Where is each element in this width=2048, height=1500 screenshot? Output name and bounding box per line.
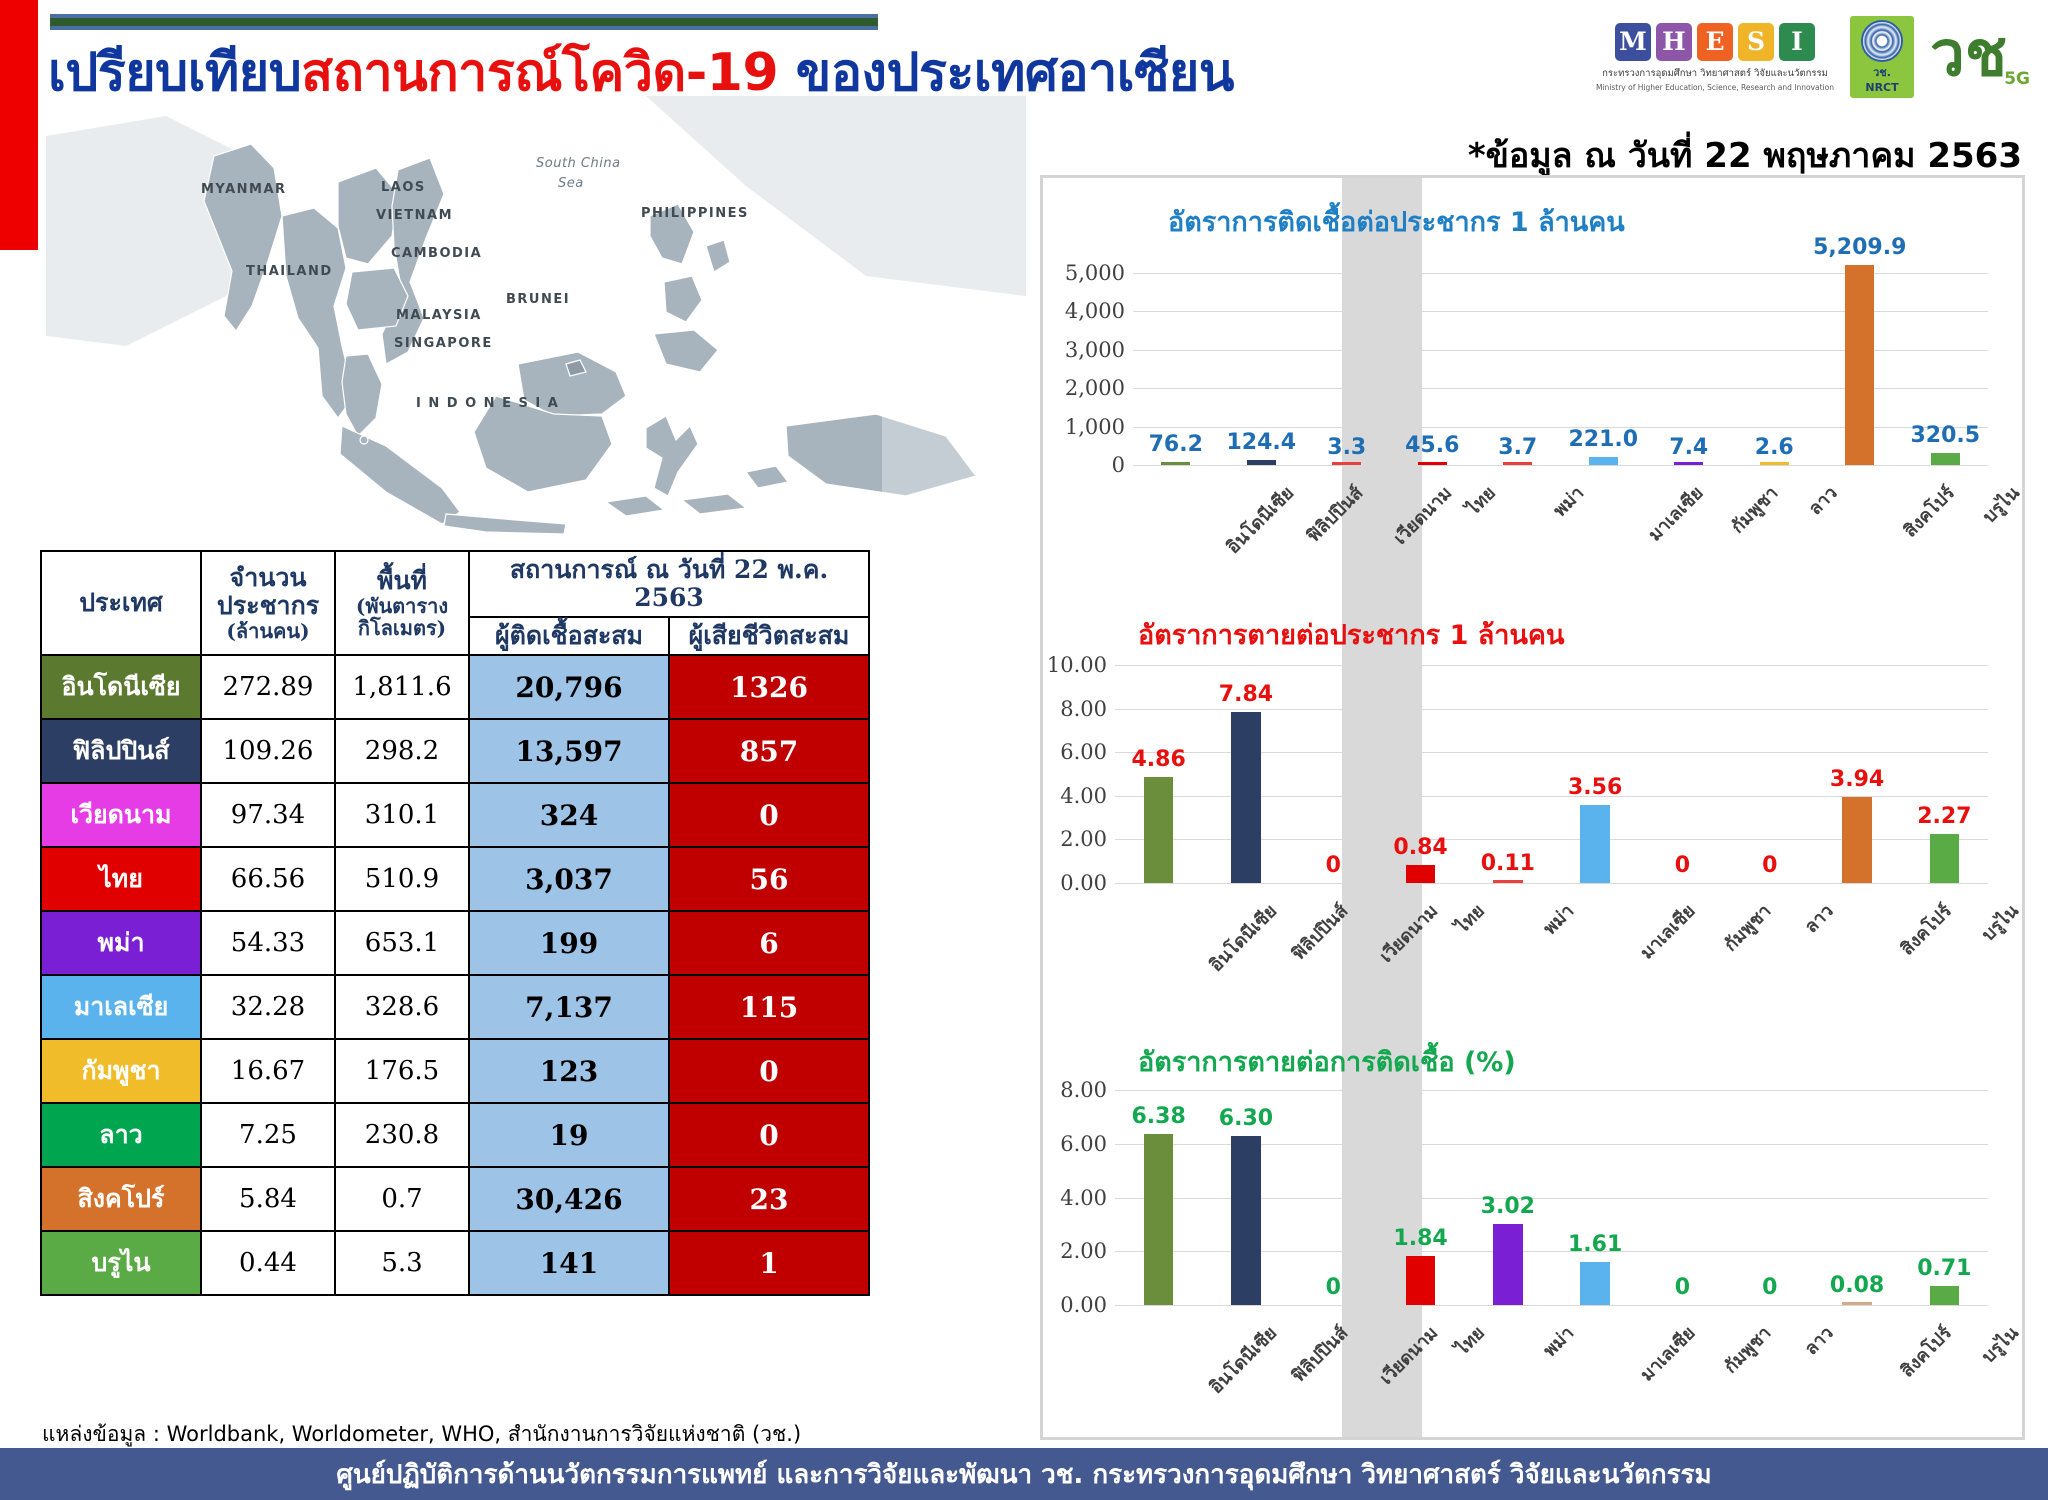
- cell-country: ฟิลิปปินส์: [41, 719, 201, 783]
- chart-data-label: 3.02: [1481, 1194, 1535, 1219]
- chart-bar: [1493, 880, 1523, 883]
- chart-bar: [1760, 462, 1789, 465]
- chart-bar: [1845, 265, 1874, 465]
- chart-data-label: 221.0: [1568, 427, 1638, 452]
- chart-data-label: 2.6: [1755, 435, 1794, 460]
- cell-cases: 3,037: [469, 847, 669, 911]
- cell-deaths: 1: [669, 1231, 869, 1295]
- mhesi-letter-i: I: [1779, 23, 1815, 61]
- page-title-part3: ของประเทศอาเซียน: [778, 43, 1234, 103]
- th-population-line1: จำนวน: [208, 564, 328, 592]
- page-title-part2: สถานการณ์โควิด-19: [301, 43, 778, 103]
- chart-y-tick-label: 8.00: [1060, 697, 1107, 721]
- chart-3: อัตราการตายต่อการติดเชื้อ (%)0.002.004.0…: [1043, 1028, 2028, 1425]
- cell-cases: 123: [469, 1039, 669, 1103]
- red-accent-bar: [0, 0, 38, 250]
- cell-area: 0.7: [335, 1167, 469, 1231]
- chart-bar: [1580, 805, 1610, 883]
- cell-population: 7.25: [201, 1103, 335, 1167]
- mhesi-letter-e: E: [1697, 23, 1733, 61]
- chart-x-tick-label: บรูไน: [1976, 479, 2027, 530]
- chart-data-label: 0.08: [1830, 1273, 1884, 1298]
- map-label: LAOS: [381, 180, 426, 195]
- th-area-line2: (พันตาราง: [342, 595, 462, 617]
- map-label: SINGAPORE: [394, 336, 493, 351]
- chart-2: อัตราการตายต่อประชากร 1 ล้านคน0.002.004.…: [1043, 603, 2028, 1003]
- chart-plot-area: 0.002.004.006.008.0010.004.86อินโดนีเซีย…: [1115, 665, 1988, 883]
- chart-bar: [1144, 1134, 1174, 1305]
- chart-title: อัตราการตายต่อการติดเชื้อ (%): [1138, 1040, 1516, 1083]
- cell-area: 510.9: [335, 847, 469, 911]
- chart-bar: [1144, 777, 1174, 883]
- as-of-date: *ข้อมูล ณ วันที่ 22 พฤษภาคม 2563: [1468, 128, 2022, 182]
- nrct-wheel-icon: [1861, 20, 1903, 62]
- chart-plot-area: 0.002.004.006.008.006.38อินโดนีเซีย6.30ฟ…: [1115, 1090, 1988, 1305]
- asean-map: MYANMARLAOSSouth ChinaSeaVIETNAMPHILIPPI…: [46, 96, 1026, 536]
- chart-bar: [1580, 1262, 1610, 1305]
- infographic-page: เปรียบเทียบสถานการณ์โควิด-19 ของประเทศอา…: [0, 0, 2048, 1500]
- chart-data-label: 0.71: [1917, 1256, 1971, 1281]
- table-row: เวียดนาม97.34310.13240: [41, 783, 869, 847]
- chart-bar: [1842, 1302, 1872, 1305]
- chart-bar: [1930, 834, 1960, 883]
- chart-data-label: 1.61: [1568, 1232, 1622, 1257]
- chart-y-tick-label: 0.00: [1060, 871, 1107, 895]
- table-row: พม่า54.33653.11996: [41, 911, 869, 975]
- chart-x-tick-label: พม่า: [1546, 479, 1590, 523]
- mhesi-letter-s: S: [1738, 23, 1774, 61]
- th-population: จำนวน ประชากร (ล้านคน): [201, 551, 335, 655]
- chart-x-tick-label: อินโดนีเซีย: [1219, 479, 1300, 560]
- chart-x-tick-label: บรูไน: [1975, 1319, 2026, 1370]
- chart-x-tick-label: พม่า: [1536, 897, 1580, 941]
- chart-x-tick-label: ลาว: [1801, 479, 1844, 522]
- mhesi-letter-blocks: M H E S I: [1615, 23, 1815, 61]
- chart-data-label: 320.5: [1910, 423, 1980, 448]
- chart-data-label: 76.2: [1149, 432, 1203, 457]
- table-row: ลาว7.25230.8190: [41, 1103, 869, 1167]
- cell-country: ไทย: [41, 847, 201, 911]
- chart-x-tick-label: มาเลเซีย: [1633, 1319, 1702, 1388]
- chart-data-label: 3.3: [1327, 435, 1366, 460]
- cell-area: 310.1: [335, 783, 469, 847]
- chart-data-label: 7.4: [1669, 435, 1708, 460]
- th-cases: ผู้ติดเชื้อสะสม: [469, 617, 669, 655]
- chart-data-label: 6.30: [1219, 1106, 1273, 1131]
- cell-area: 653.1: [335, 911, 469, 975]
- chart-x-tick-label: อินโดนีเซีย: [1202, 1319, 1283, 1400]
- table-row: กัมพูชา16.67176.51230: [41, 1039, 869, 1103]
- cell-population: 0.44: [201, 1231, 335, 1295]
- map-label: South China: [536, 156, 621, 171]
- chart-data-label: 0: [1762, 1275, 1777, 1300]
- th-deaths: ผู้เสียชีวิตสะสม: [669, 617, 869, 655]
- cell-area: 230.8: [335, 1103, 469, 1167]
- nrct-logo: วช. NRCT: [1850, 16, 1914, 98]
- chart-bar: [1931, 453, 1960, 465]
- chart-data-label: 4.86: [1132, 747, 1186, 772]
- chart-y-tick-label: 10.00: [1047, 653, 1107, 677]
- th-area-line1: พื้นที่: [342, 567, 462, 595]
- cell-area: 5.3: [335, 1231, 469, 1295]
- cell-country: บรูไน: [41, 1231, 201, 1295]
- th-area-line3: กิโลเมตร): [342, 617, 462, 639]
- table-body: อินโดนีเซีย272.891,811.620,7961326ฟิลิปป…: [41, 655, 869, 1295]
- mhesi-english-name: Ministry of Higher Education, Science, R…: [1596, 83, 1834, 92]
- chart-y-tick-label: 4.00: [1060, 784, 1107, 808]
- chart-1: อัตราการติดเชื้อต่อประชากร 1 ล้านคน01,00…: [1043, 178, 2028, 585]
- chart-x-tick-label: ไทย: [1459, 479, 1502, 522]
- cell-population: 272.89: [201, 655, 335, 719]
- chart-bar: [1231, 1136, 1261, 1305]
- chart-y-tick-label: 2,000: [1065, 376, 1125, 400]
- chart-y-tick-label: 1,000: [1065, 415, 1125, 439]
- chart-y-tick-label: 2.00: [1060, 827, 1107, 851]
- chart-data-label: 45.6: [1405, 433, 1459, 458]
- chart-x-tick-label: กัมพูชา: [1717, 897, 1778, 958]
- chart-x-tick-label: บรูไน: [1975, 897, 2026, 948]
- chart-data-label: 0.11: [1481, 851, 1535, 876]
- cell-population: 97.34: [201, 783, 335, 847]
- chart-x-tick-label: มาเลเซีย: [1641, 479, 1710, 548]
- cell-cases: 20,796: [469, 655, 669, 719]
- chart-x-tick-label: มาเลเซีย: [1633, 897, 1702, 966]
- chart-x-tick-label: เวียดนาม: [1386, 479, 1458, 551]
- vch-5g-label: 5G: [2004, 69, 2030, 89]
- charts-panel: อัตราการติดเชื้อต่อประชากร 1 ล้านคน01,00…: [1040, 175, 2025, 1440]
- cell-cases: 199: [469, 911, 669, 975]
- chart-x-tick-label: ฟิลิปปินส์: [1284, 897, 1354, 967]
- chart-data-label: 3.56: [1568, 775, 1622, 800]
- chart-plot-area: 01,0002,0003,0004,0005,00076.2อินโดนีเซี…: [1133, 250, 1988, 465]
- table-row: ไทย66.56510.93,03756: [41, 847, 869, 911]
- cell-cases: 30,426: [469, 1167, 669, 1231]
- mhesi-thai-name: กระทรวงการอุดมศึกษา วิทยาศาสตร์ วิจัยและ…: [1602, 66, 1828, 81]
- chart-data-label: 2.27: [1917, 804, 1971, 829]
- chart-y-tick-label: 8.00: [1060, 1078, 1107, 1102]
- th-situation: สถานการณ์ ณ วันที่ 22 พ.ค. 2563: [469, 551, 869, 617]
- nrct-thai-label: วช.: [1873, 63, 1891, 81]
- cell-cases: 7,137: [469, 975, 669, 1039]
- chart-x-tick-label: กัมพูชา: [1717, 1319, 1778, 1380]
- chart-data-label: 0: [1326, 1275, 1341, 1300]
- chart-x-tick-label: ลาว: [1797, 897, 1840, 940]
- cell-deaths: 0: [669, 1103, 869, 1167]
- cell-country: กัมพูชา: [41, 1039, 201, 1103]
- chart-y-tick-label: 6.00: [1060, 1132, 1107, 1156]
- cell-country: พม่า: [41, 911, 201, 975]
- chart-gridline: [1133, 465, 1988, 466]
- th-population-line2: ประชากร: [208, 592, 328, 620]
- chart-data-label: 0: [1675, 853, 1690, 878]
- cell-area: 328.6: [335, 975, 469, 1039]
- th-population-line3: (ล้านคน): [208, 620, 328, 642]
- map-label: THAILAND: [246, 264, 333, 279]
- chart-y-tick-label: 0: [1112, 453, 1125, 477]
- chart-data-label: 7.84: [1219, 682, 1273, 707]
- chart-bar: [1674, 462, 1703, 465]
- cell-population: 109.26: [201, 719, 335, 783]
- chart-bar: [1247, 460, 1276, 465]
- chart-data-label: 5,209.9: [1813, 235, 1906, 260]
- cell-country: มาเลเซีย: [41, 975, 201, 1039]
- chart-bar: [1930, 1286, 1960, 1305]
- country-stats-table: ประเทศ จำนวน ประชากร (ล้านคน) พื้นที่ (พ…: [40, 550, 870, 1296]
- chart-x-tick-label: กัมพูชา: [1723, 479, 1784, 540]
- map-label: CAMBODIA: [391, 246, 482, 261]
- chart-data-label: 1.84: [1393, 1226, 1447, 1251]
- mhesi-logo: M H E S I กระทรวงการอุดมศึกษา วิทยาศาสตร…: [1596, 23, 1834, 92]
- cell-country: เวียดนาม: [41, 783, 201, 847]
- cell-deaths: 23: [669, 1167, 869, 1231]
- chart-gridline: [1115, 883, 1988, 884]
- mhesi-letter-m: M: [1615, 23, 1651, 61]
- chart-x-tick-label: อินโดนีเซีย: [1202, 897, 1283, 978]
- chart-y-tick-label: 4,000: [1065, 299, 1125, 323]
- cell-deaths: 115: [669, 975, 869, 1039]
- chart-y-tick-label: 2.00: [1060, 1239, 1107, 1263]
- cell-area: 298.2: [335, 719, 469, 783]
- vch-5g-logo: วช 5G: [1930, 19, 2026, 95]
- chart-x-tick-label: เวียดนาม: [1373, 1319, 1445, 1391]
- chart-gridline: [1115, 709, 1988, 710]
- chart-y-tick-label: 5,000: [1065, 261, 1125, 285]
- map-label: VIETNAM: [376, 208, 453, 223]
- chart-bar: [1406, 1256, 1436, 1305]
- chart-x-tick-label: สิงคโปร์: [1893, 1319, 1958, 1384]
- cell-cases: 324: [469, 783, 669, 847]
- chart-data-label: 0: [1326, 853, 1341, 878]
- chart-bar: [1842, 797, 1872, 883]
- chart-x-tick-label: สิงคโปร์: [1896, 479, 1961, 544]
- cell-area: 1,811.6: [335, 655, 469, 719]
- chart-y-tick-label: 0.00: [1060, 1293, 1107, 1317]
- chart-gridline: [1115, 665, 1988, 666]
- chart-bar: [1332, 462, 1361, 465]
- chart-gridline: [1115, 1305, 1988, 1306]
- map-label: PHILIPPINES: [641, 206, 749, 221]
- map-label: BRUNEI: [506, 292, 570, 307]
- chart-gridline: [1115, 1090, 1988, 1091]
- chart-data-label: 3.94: [1830, 767, 1884, 792]
- chart-bar: [1418, 462, 1447, 465]
- table-row: สิงคโปร์5.840.730,42623: [41, 1167, 869, 1231]
- table-header-row-1: ประเทศ จำนวน ประชากร (ล้านคน) พื้นที่ (พ…: [41, 551, 869, 617]
- map-label: Sea: [558, 176, 584, 191]
- chart-data-label: 0.84: [1393, 835, 1447, 860]
- chart-data-label: 3.7: [1498, 435, 1537, 460]
- page-title-part1: เปรียบเทียบ: [48, 43, 301, 103]
- table-row: บรูไน0.445.31411: [41, 1231, 869, 1295]
- cell-population: 54.33: [201, 911, 335, 975]
- chart-bar: [1589, 457, 1618, 465]
- cell-population: 16.67: [201, 1039, 335, 1103]
- table-head: ประเทศ จำนวน ประชากร (ล้านคน) พื้นที่ (พ…: [41, 551, 869, 655]
- chart-x-tick-label: ฟิลิปปินส์: [1284, 1319, 1354, 1389]
- cell-deaths: 0: [669, 783, 869, 847]
- chart-x-tick-label: สิงคโปร์: [1893, 897, 1958, 962]
- chart-x-tick-label: ฟิลิปปินส์: [1300, 479, 1370, 549]
- chart-x-tick-label: เวียดนาม: [1373, 897, 1445, 969]
- table-row: ฟิลิปปินส์109.26298.213,597857: [41, 719, 869, 783]
- th-country: ประเทศ: [41, 551, 201, 655]
- map-label: MALAYSIA: [396, 308, 482, 323]
- cell-population: 66.56: [201, 847, 335, 911]
- chart-data-label: 0: [1675, 1275, 1690, 1300]
- page-footer: ศูนย์ปฏิบัติการด้านนวัตกรรมการแพทย์ และก…: [0, 1448, 2048, 1500]
- table-row: มาเลเซีย32.28328.67,137115: [41, 975, 869, 1039]
- cell-area: 176.5: [335, 1039, 469, 1103]
- chart-title: อัตราการตายต่อประชากร 1 ล้านคน: [1138, 613, 1564, 656]
- nrct-abbrev-label: NRCT: [1865, 81, 1898, 94]
- chart-x-tick-label: ลาว: [1797, 1319, 1840, 1362]
- map-label: I N D O N E S I A: [416, 396, 559, 411]
- cell-deaths: 6: [669, 911, 869, 975]
- chart-title: อัตราการติดเชื้อต่อประชากร 1 ล้านคน: [1168, 200, 1625, 243]
- map-label: MYANMAR: [201, 182, 287, 197]
- mhesi-letter-h: H: [1656, 23, 1692, 61]
- chart-bar: [1503, 462, 1532, 465]
- chart-bar: [1161, 462, 1190, 465]
- cell-deaths: 857: [669, 719, 869, 783]
- cell-country: อินโดนีเซีย: [41, 655, 201, 719]
- chart-data-label: 6.38: [1132, 1104, 1186, 1129]
- chart-data-label: 124.4: [1226, 430, 1296, 455]
- chart-bar: [1231, 712, 1261, 883]
- chart-bar: [1493, 1224, 1523, 1305]
- table-row: อินโดนีเซีย272.891,811.620,7961326: [41, 655, 869, 719]
- cell-cases: 13,597: [469, 719, 669, 783]
- chart-x-tick-label: พม่า: [1536, 1319, 1580, 1363]
- source-note: แหล่งข้อมูล : Worldbank, Worldometer, WH…: [42, 1418, 801, 1451]
- chart-data-label: 0: [1762, 853, 1777, 878]
- cell-country: สิงคโปร์: [41, 1167, 201, 1231]
- cell-deaths: 0: [669, 1039, 869, 1103]
- header-rule-inner: [50, 18, 878, 26]
- chart-x-tick-label: ไทย: [1448, 1319, 1491, 1362]
- cell-cases: 19: [469, 1103, 669, 1167]
- chart-y-tick-label: 6.00: [1060, 740, 1107, 764]
- chart-x-tick-label: ไทย: [1448, 897, 1491, 940]
- cell-deaths: 56: [669, 847, 869, 911]
- cell-cases: 141: [469, 1231, 669, 1295]
- cell-country: ลาว: [41, 1103, 201, 1167]
- chart-bar: [1406, 865, 1436, 883]
- th-area: พื้นที่ (พันตาราง กิโลเมตร): [335, 551, 469, 655]
- cell-population: 5.84: [201, 1167, 335, 1231]
- chart-y-tick-label: 3,000: [1065, 338, 1125, 362]
- cell-population: 32.28: [201, 975, 335, 1039]
- logo-group: M H E S I กระทรวงการอุดมศึกษา วิทยาศาสตร…: [1596, 16, 2026, 98]
- chart-y-tick-label: 4.00: [1060, 1186, 1107, 1210]
- cell-deaths: 1326: [669, 655, 869, 719]
